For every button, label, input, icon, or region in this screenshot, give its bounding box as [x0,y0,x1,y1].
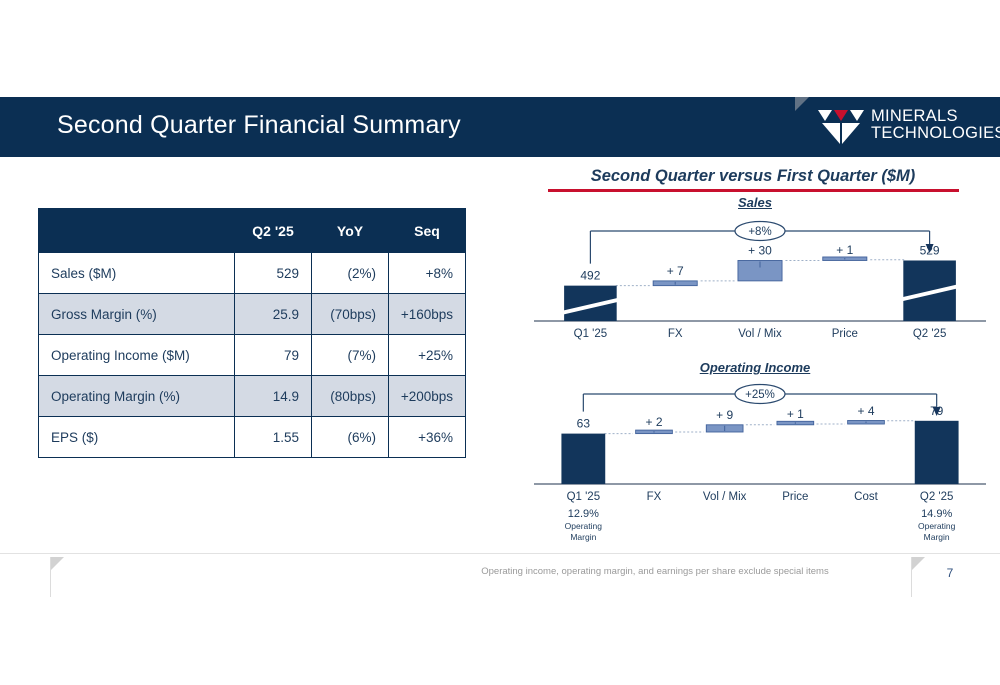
financial-summary-table: Q2 '25 YoY Seq Sales ($M) 529 (2%) +8% G… [38,208,466,458]
total-bar [899,260,960,321]
callout-bracket: +25% [583,385,940,417]
cell-yoy: (7%) [312,335,389,376]
page-title: Second Quarter Financial Summary [57,111,461,140]
sub-annotation-line1: Operating [565,521,603,531]
sub-annotation-line1: Operating [918,521,956,531]
category-label: Q2 '25 [913,328,947,340]
sub-annotation-line2: Margin [570,532,596,542]
table-header: Q2 '25 YoY Seq [39,209,466,253]
category-label: Q1 '25 [574,328,608,340]
cell-yoy: (70bps) [312,294,389,335]
sub-annotation-line2: Margin [924,532,950,542]
panel-heading-rule [548,189,959,192]
sales-waterfall-chart: 492+ 7+ 30+ 1529Q1 '25FXVol / MixPriceQ2… [530,213,990,355]
bar-value-label: + 4 [857,404,874,418]
column-header-q2: Q2 '25 [235,209,312,253]
category-label: Cost [854,491,878,503]
category-label: FX [668,328,683,340]
category-label: FX [647,491,662,503]
bar-rect [915,421,959,484]
table-row: Operating Margin (%) 14.9 (80bps) +200bp… [39,376,466,417]
bar-rect [903,260,956,321]
cell-seq: +36% [389,417,466,458]
table-row: Sales ($M) 529 (2%) +8% [39,253,466,294]
delta-bar [738,260,782,280]
bar-value-label: + 1 [836,243,853,257]
row-label: Sales ($M) [39,253,235,294]
bar-value-label: + 9 [716,408,733,422]
logo-corner-accent [795,97,809,111]
category-label: Vol / Mix [738,328,782,340]
cell-q2: 79 [235,335,312,376]
category-label: Q1 '25 [567,491,601,503]
cell-yoy: (80bps) [312,376,389,417]
column-header-metric [39,209,235,253]
footer-corner-left-triangle-icon [51,557,64,570]
cell-seq: +8% [389,253,466,294]
cell-q2: 25.9 [235,294,312,335]
sub-annotation-value: 14.9% [921,508,952,520]
cell-yoy: (2%) [312,253,389,294]
cell-seq: +25% [389,335,466,376]
row-label: Gross Margin (%) [39,294,235,335]
table-row: EPS ($) 1.55 (6%) +36% [39,417,466,458]
operating-income-waterfall-chart: 63+ 2+ 9+ 1+ 479Q1 '25FXVol / MixPriceCo… [530,376,990,548]
delta-bar [653,281,697,286]
cell-seq: +200bps [389,376,466,417]
delta-bar [823,257,867,261]
minerals-technologies-mark-icon [818,108,864,146]
cell-q2: 14.9 [235,376,312,417]
callout-percent-label: +8% [748,226,771,238]
callout-percent-label: +25% [745,389,775,401]
row-label: EPS ($) [39,417,235,458]
bar-value-label: 63 [577,417,591,431]
row-label: Operating Income ($M) [39,335,235,376]
row-label: Operating Margin (%) [39,376,235,417]
footnote-text: Operating income, operating margin, and … [420,566,890,577]
bar-value-label: + 2 [645,415,662,429]
slide: Second Quarter Financial Summary MINERAL… [0,0,1000,685]
panel-heading: Second Quarter versus First Quarter ($M) [548,167,958,186]
total-bar [915,421,959,484]
bar-value-label: 492 [580,269,600,283]
sales-chart-title: Sales [618,195,892,210]
category-label: Vol / Mix [703,491,747,503]
delta-bar [706,425,743,432]
delta-bar [777,421,814,425]
total-bar [560,286,621,321]
footer-divider [0,553,1000,554]
cell-q2: 529 [235,253,312,294]
page-number: 7 [930,566,970,580]
column-header-yoy: YoY [312,209,389,253]
table-header-row: Q2 '25 YoY Seq [39,209,466,253]
logo-line-1: MINERALS [871,107,958,125]
table-row: Gross Margin (%) 25.9 (70bps) +160bps [39,294,466,335]
category-label: Q2 '25 [920,491,954,503]
delta-bar [848,421,885,425]
bar-rect [561,434,605,484]
logo-line-2: TECHNOLOGIES [871,125,1000,142]
total-bar [561,434,605,484]
bar-value-label: + 30 [748,243,772,257]
logo-wordmark: MINERALS TECHNOLOGIES [871,108,1000,142]
cell-q2: 1.55 [235,417,312,458]
cell-seq: +160bps [389,294,466,335]
bar-value-label: + 1 [787,407,804,421]
operating-income-chart-title: Operating Income [588,360,922,375]
company-logo: MINERALS TECHNOLOGIES [795,97,1000,157]
column-header-seq: Seq [389,209,466,253]
cell-yoy: (6%) [312,417,389,458]
sub-annotation-value: 12.9% [568,508,599,520]
footer-corner-right-triangle-icon [912,557,925,570]
bar-value-label: + 7 [667,264,684,278]
category-label: Price [832,328,858,340]
delta-bar [636,430,673,434]
table-row: Operating Income ($M) 79 (7%) +25% [39,335,466,376]
category-label: Price [782,491,808,503]
table-body: Sales ($M) 529 (2%) +8% Gross Margin (%)… [39,253,466,458]
